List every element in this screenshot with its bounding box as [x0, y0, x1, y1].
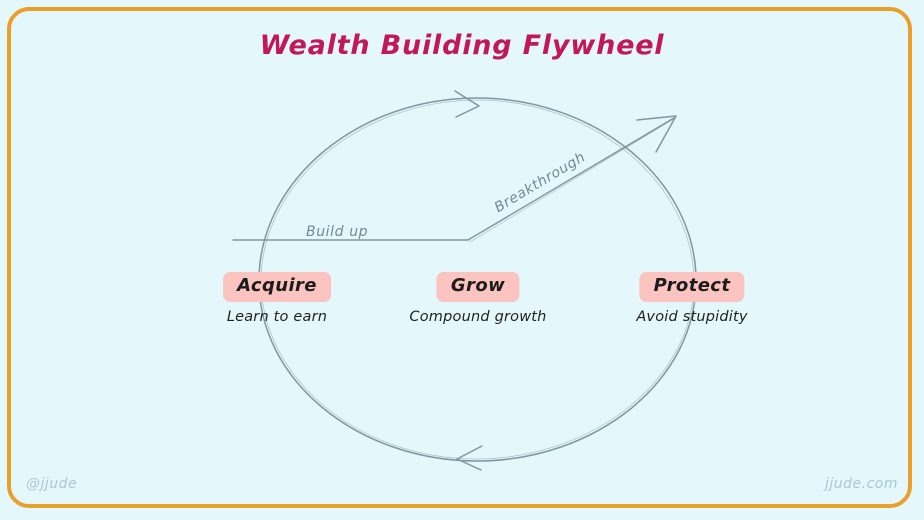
stage-node-acquire[interactable]: Acquire Learn to earn — [223, 272, 331, 325]
cycle-arrowhead-top — [455, 91, 479, 117]
stage-node-protect[interactable]: Protect Avoid stupidity — [636, 272, 747, 325]
stage-badge-acquire[interactable]: Acquire — [223, 272, 331, 302]
site-url: jjude.com — [825, 476, 898, 492]
diagram-canvas: Wealth Building Flywheel Build up Breakt… — [0, 0, 924, 520]
stage-badge-grow[interactable]: Grow — [437, 272, 519, 302]
stage-sublabel-acquire: Learn to earn — [223, 309, 331, 325]
annotation-build-up: Build up — [306, 224, 368, 240]
breakthrough-line-sketch — [470, 120, 672, 242]
breakthrough-line — [468, 118, 674, 240]
stage-sublabel-grow: Compound growth — [409, 309, 546, 325]
flywheel-artwork — [0, 0, 924, 520]
author-handle: @jjude — [26, 476, 77, 492]
stage-node-grow[interactable]: Grow Compound growth — [409, 272, 546, 325]
stage-sublabel-protect: Avoid stupidity — [636, 309, 747, 325]
cycle-arrowhead-bottom — [457, 446, 482, 470]
stage-badge-protect[interactable]: Protect — [640, 272, 745, 302]
